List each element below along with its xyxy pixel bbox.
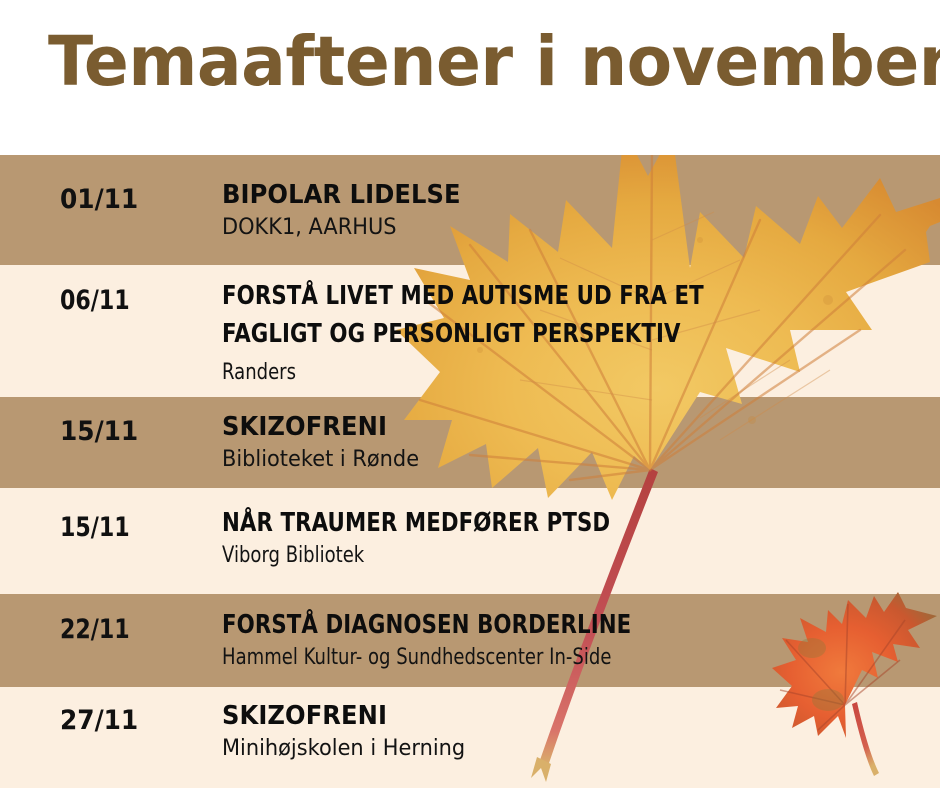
event-row[interactable]: 01/11 BIPOLAR LIDELSE DOKK1, AARHUS <box>0 155 940 265</box>
event-title: SKIZOFRENI <box>222 700 880 733</box>
event-row[interactable]: 27/11 SKIZOFRENI Minihøjskolen i Herning <box>0 687 940 788</box>
event-date: 06/11 <box>60 285 183 316</box>
event-row[interactable]: 22/11 FORSTÅ DIAGNOSEN BORDERLINE Hammel… <box>0 594 940 687</box>
event-date: 15/11 <box>60 416 198 447</box>
event-row[interactable]: 06/11 FORSTÅ LIVET MED AUTISME UD FRA ET… <box>0 265 940 397</box>
event-date: 01/11 <box>60 184 198 215</box>
event-date: 22/11 <box>60 614 183 645</box>
event-venue: Hammel Kultur- og Sundhedscenter In-Side <box>222 644 803 671</box>
event-details: BIPOLAR LIDELSE DOKK1, AARHUS <box>222 179 930 241</box>
event-venue: Biblioteket i Rønde <box>222 446 895 473</box>
event-title: BIPOLAR LIDELSE <box>222 179 880 212</box>
title-area: Temaaftener i november <box>0 0 940 155</box>
event-details: SKIZOFRENI Biblioteket i Rønde <box>222 411 930 473</box>
event-title: SKIZOFRENI <box>222 411 880 444</box>
event-venue: Minihøjskolen i Herning <box>222 735 895 762</box>
poster-canvas: Temaaftener i november 01/11 BIPOLAR LID… <box>0 0 940 788</box>
event-details: NÅR TRAUMER MEDFØRER PTSD Viborg Bibliot… <box>222 507 930 569</box>
event-title-line-1: FORSTÅ LIVET MED AUTISME UD FRA ET <box>222 280 803 313</box>
event-venue: Randers <box>222 359 803 386</box>
event-venue: DOKK1, AARHUS <box>222 214 895 241</box>
event-title: FORSTÅ DIAGNOSEN BORDERLINE <box>222 609 803 642</box>
event-date: 15/11 <box>60 512 183 543</box>
event-title: NÅR TRAUMER MEDFØRER PTSD <box>222 507 803 540</box>
event-details: FORSTÅ DIAGNOSEN BORDERLINE Hammel Kultu… <box>222 609 930 671</box>
event-row[interactable]: 15/11 SKIZOFRENI Biblioteket i Rønde <box>0 397 940 488</box>
event-details: SKIZOFRENI Minihøjskolen i Herning <box>222 700 930 762</box>
event-details: FORSTÅ LIVET MED AUTISME UD FRA ET FAGLI… <box>222 280 930 386</box>
event-title-line-2: FAGLIGT OG PERSONLIGT PERSPEKTIV <box>222 318 803 351</box>
event-row[interactable]: 15/11 NÅR TRAUMER MEDFØRER PTSD Viborg B… <box>0 488 940 594</box>
event-venue: Viborg Bibliotek <box>222 542 803 569</box>
page-title: Temaaftener i november <box>48 22 940 102</box>
event-date: 27/11 <box>60 705 198 736</box>
